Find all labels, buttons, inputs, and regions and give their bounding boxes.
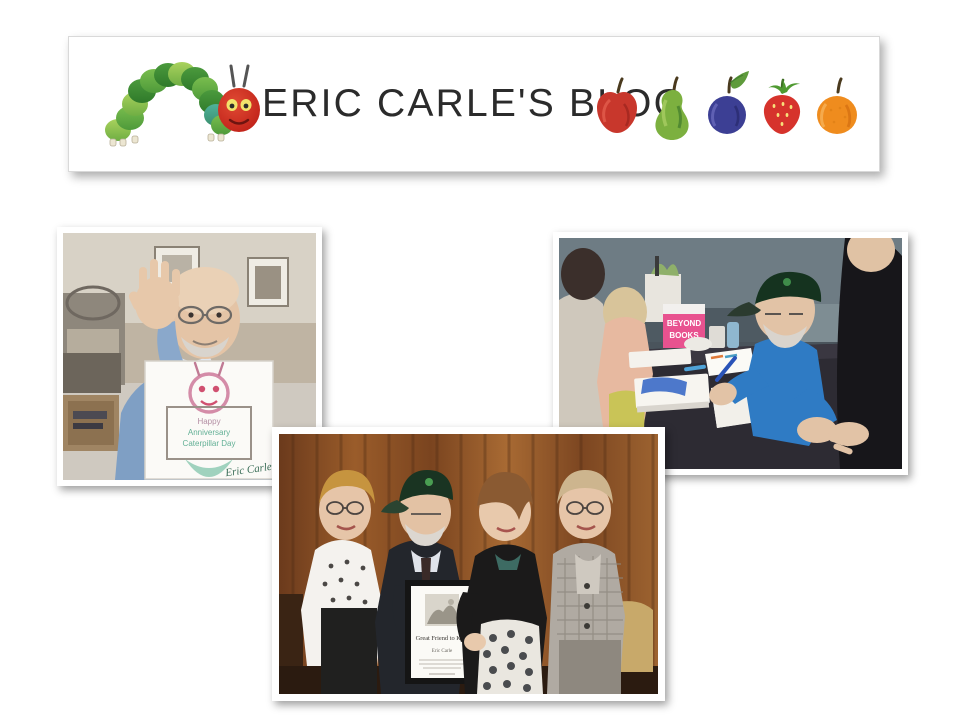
pear-icon [649,70,695,144]
banner-inner: ERIC CARLE'S BLOG [74,42,874,166]
site-banner: ERIC CARLE'S BLOG [68,36,880,172]
very-hungry-caterpillar-icon [102,56,270,156]
svg-text:Eric Carle: Eric Carle [432,649,453,654]
plum-icon [704,70,750,144]
photo-award-presentation-image: Great Friend to Kids Eric Carle [279,434,658,694]
strawberry-icon [759,70,805,144]
svg-text:Anniversary: Anniversary [188,428,230,437]
orange-icon [814,70,860,144]
svg-text:BEYOND: BEYOND [667,319,701,328]
svg-text:Happy: Happy [197,417,220,426]
svg-text:Caterpillar Day: Caterpillar Day [183,439,236,448]
photo-award-presentation[interactable]: Great Friend to Kids Eric Carle [272,427,665,701]
fruit-row [594,64,860,144]
apple-icon [594,70,640,144]
photo-award-presentation-svg: Great Friend to Kids Eric Carle [279,434,658,694]
